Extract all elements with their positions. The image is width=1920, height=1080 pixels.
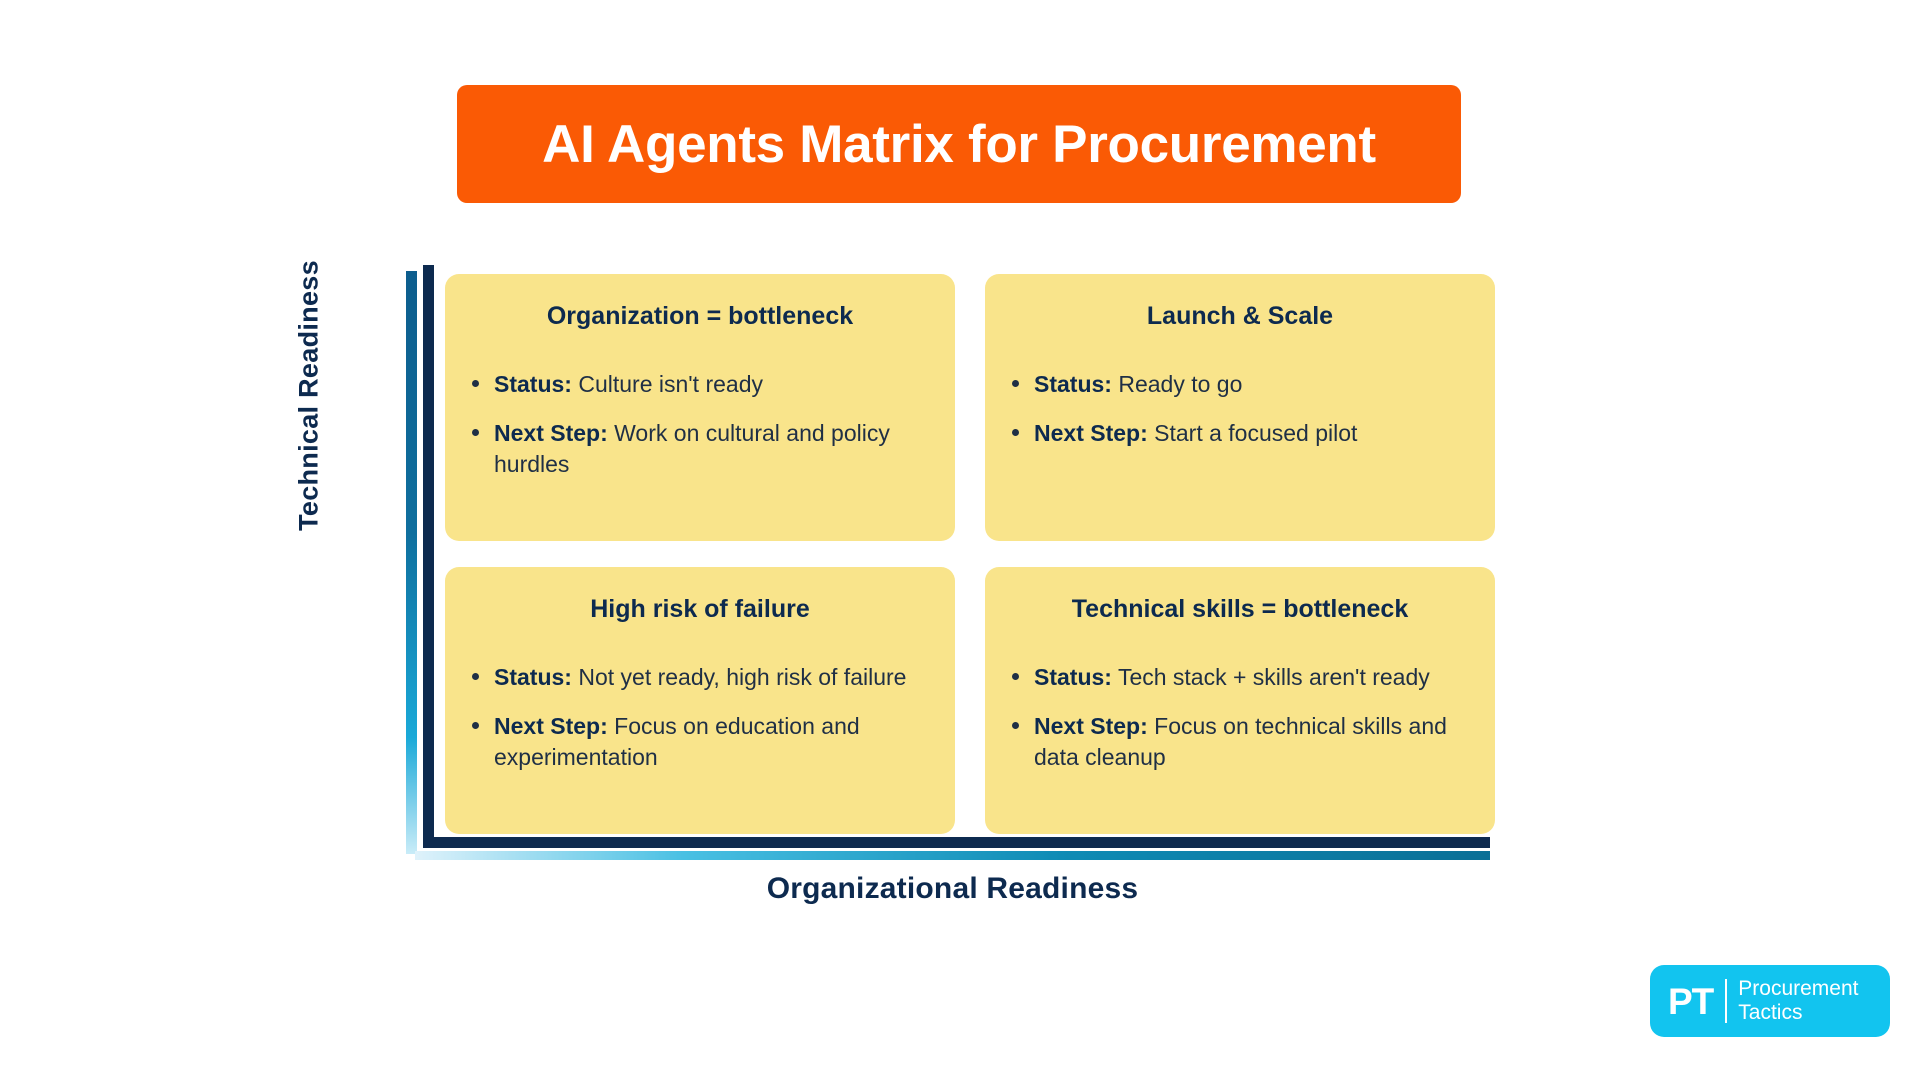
bullet-value: Tech stack + skills aren't ready — [1118, 664, 1430, 690]
quadrant-grid: Organization = bottleneck Status: Cultur… — [445, 274, 1495, 834]
list-item: Next Step: Work on cultural and policy h… — [469, 418, 931, 479]
bullet-label: Next Step: — [1034, 420, 1148, 446]
bullet-value: Culture isn't ready — [578, 371, 763, 397]
y-axis-line — [423, 265, 434, 848]
bullet-label: Status: — [494, 664, 572, 690]
bullet-label: Next Step: — [494, 420, 608, 446]
bullet-dot-icon — [472, 673, 479, 680]
page-title: AI Agents Matrix for Procurement — [542, 114, 1376, 175]
list-item: Next Step: Start a focused pilot — [1009, 418, 1471, 448]
logo-wordmark: Procurement Tactics — [1738, 977, 1858, 1024]
quadrant-title: Launch & Scale — [1009, 301, 1471, 331]
bullet-label: Next Step: — [494, 713, 608, 739]
bullet-label: Status: — [494, 371, 572, 397]
x-axis-line — [423, 837, 1490, 848]
logo-word-line1: Procurement — [1738, 977, 1858, 1001]
bullet-dot-icon — [472, 429, 479, 436]
bullet-label: Status: — [1034, 371, 1112, 397]
title-banner: AI Agents Matrix for Procurement — [457, 85, 1461, 203]
x-axis-accent-bar — [415, 851, 1490, 860]
x-axis-label: Organizational Readiness — [405, 872, 1500, 906]
quadrant-card-bottom-right[interactable]: Technical skills = bottleneck Status: Te… — [985, 567, 1495, 834]
bullet-dot-icon — [1012, 673, 1019, 680]
list-item: Next Step: Focus on education and experi… — [469, 711, 931, 772]
list-item: Status: Tech stack + skills aren't ready — [1009, 662, 1471, 692]
bullet-label: Status: — [1034, 664, 1112, 690]
list-item: Status: Culture isn't ready — [469, 369, 931, 399]
quadrant-bullet-list: Status: Ready to go Next Step: Start a f… — [1009, 369, 1471, 449]
quadrant-bullet-list: Status: Tech stack + skills aren't ready… — [1009, 662, 1471, 772]
procurement-tactics-logo[interactable]: PT Procurement Tactics — [1650, 965, 1890, 1037]
quadrant-title: Organization = bottleneck — [469, 301, 931, 331]
bullet-value: Not yet ready, high risk of failure — [578, 664, 906, 690]
bullet-dot-icon — [472, 380, 479, 387]
quadrant-bullet-list: Status: Not yet ready, high risk of fail… — [469, 662, 931, 772]
list-item: Next Step: Focus on technical skills and… — [1009, 711, 1471, 772]
bullet-dot-icon — [1012, 429, 1019, 436]
logo-word-line2: Tactics — [1738, 1001, 1858, 1025]
bullet-dot-icon — [1012, 380, 1019, 387]
logo-monogram: PT — [1668, 983, 1713, 1020]
list-item: Status: Ready to go — [1009, 369, 1471, 399]
bullet-value: Ready to go — [1118, 371, 1242, 397]
bullet-dot-icon — [1012, 722, 1019, 729]
y-axis-accent-bar — [406, 271, 417, 854]
quadrant-title: Technical skills = bottleneck — [1009, 594, 1471, 624]
quadrant-card-top-right[interactable]: Launch & Scale Status: Ready to go Next … — [985, 274, 1495, 541]
quadrant-card-bottom-left[interactable]: High risk of failure Status: Not yet rea… — [445, 567, 955, 834]
quadrant-bullet-list: Status: Culture isn't ready Next Step: W… — [469, 369, 931, 479]
bullet-dot-icon — [472, 722, 479, 729]
quadrant-card-top-left[interactable]: Organization = bottleneck Status: Cultur… — [445, 274, 955, 541]
list-item: Status: Not yet ready, high risk of fail… — [469, 662, 931, 692]
quadrant-title: High risk of failure — [469, 594, 931, 624]
y-axis-label: Technical Readiness — [294, 186, 325, 606]
logo-divider — [1725, 979, 1727, 1023]
matrix-container: Organization = bottleneck Status: Cultur… — [405, 265, 1500, 860]
bullet-value: Start a focused pilot — [1154, 420, 1357, 446]
bullet-label: Next Step: — [1034, 713, 1148, 739]
